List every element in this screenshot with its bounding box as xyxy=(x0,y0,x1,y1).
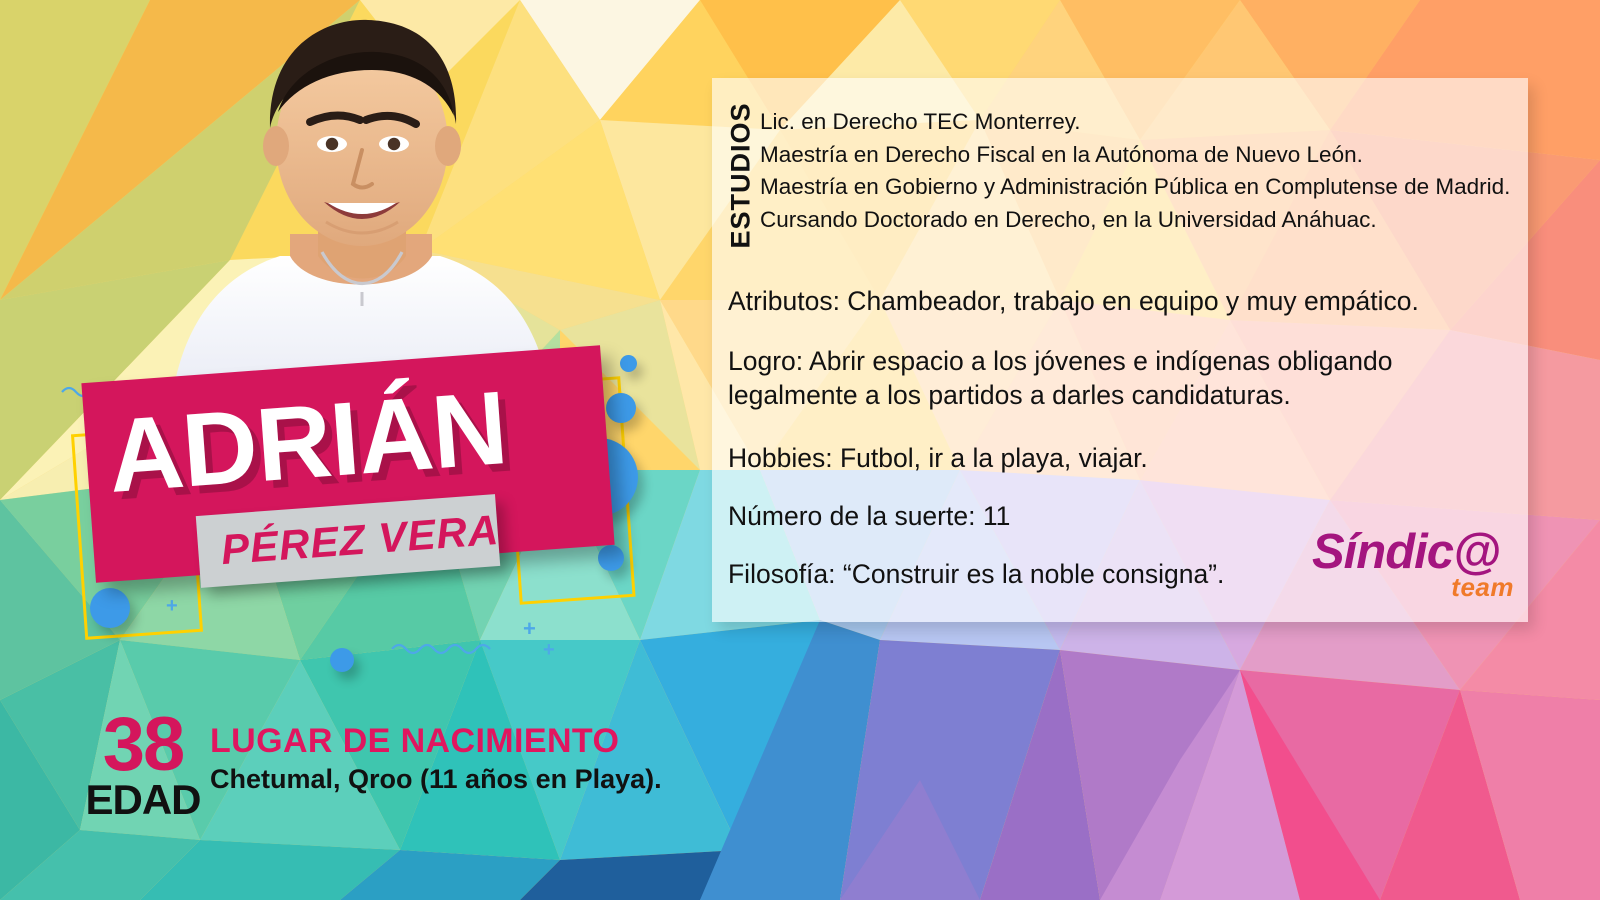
estudios-item: Maestría en Derecho Fiscal en la Autónom… xyxy=(760,139,1520,172)
plus-mark-left: + xyxy=(166,596,178,616)
age-block: 38 EDAD xyxy=(78,712,208,821)
hobbies-text: Hobbies: Futbol, ir a la playa, viajar. xyxy=(728,442,1488,476)
birthplace-value: Chetumal, Qroo (11 años en Playa). xyxy=(210,763,662,797)
logro-text: Logro: Abrir espacio a los jóvenes e ind… xyxy=(728,345,1488,413)
logo-wordmark: Síndic@ xyxy=(1312,528,1500,577)
sindicat-team-logo: Síndic@ team xyxy=(1312,528,1520,610)
birthplace-title: LUGAR DE NACIMIENTO xyxy=(210,724,662,760)
estudios-label-text: ESTUDIOS xyxy=(726,102,757,248)
candidate-profile-poster: + + + + xyxy=(0,0,1600,900)
estudios-vertical-label: ESTUDIOS xyxy=(724,100,758,250)
atributos-text: Atributos: Chambeador, trabajo en equipo… xyxy=(728,285,1488,319)
birthplace-block: LUGAR DE NACIMIENTO Chetumal, Qroo (11 a… xyxy=(210,724,662,796)
estudios-list: Lic. en Derecho TEC Monterrey. Maestría … xyxy=(760,106,1520,237)
plus-mark-bottom: + xyxy=(523,618,536,640)
blue-dot-small-lower xyxy=(598,545,624,571)
wave-line-bottom xyxy=(390,640,500,656)
estudios-item: Lic. en Derecho TEC Monterrey. xyxy=(760,106,1520,139)
estudios-item: Maestría en Gobierno y Administración Pú… xyxy=(760,171,1520,204)
blue-dot-bottom-mid xyxy=(330,648,354,672)
age-number: 38 xyxy=(78,712,208,779)
blue-dot-bottom-left xyxy=(90,588,130,628)
logo-tagline: team xyxy=(1451,574,1514,600)
age-label: EDAD xyxy=(78,779,208,821)
estudios-item: Cursando Doctorado en Derecho, en la Uni… xyxy=(760,204,1520,237)
plus-mark-right: + xyxy=(543,640,555,660)
